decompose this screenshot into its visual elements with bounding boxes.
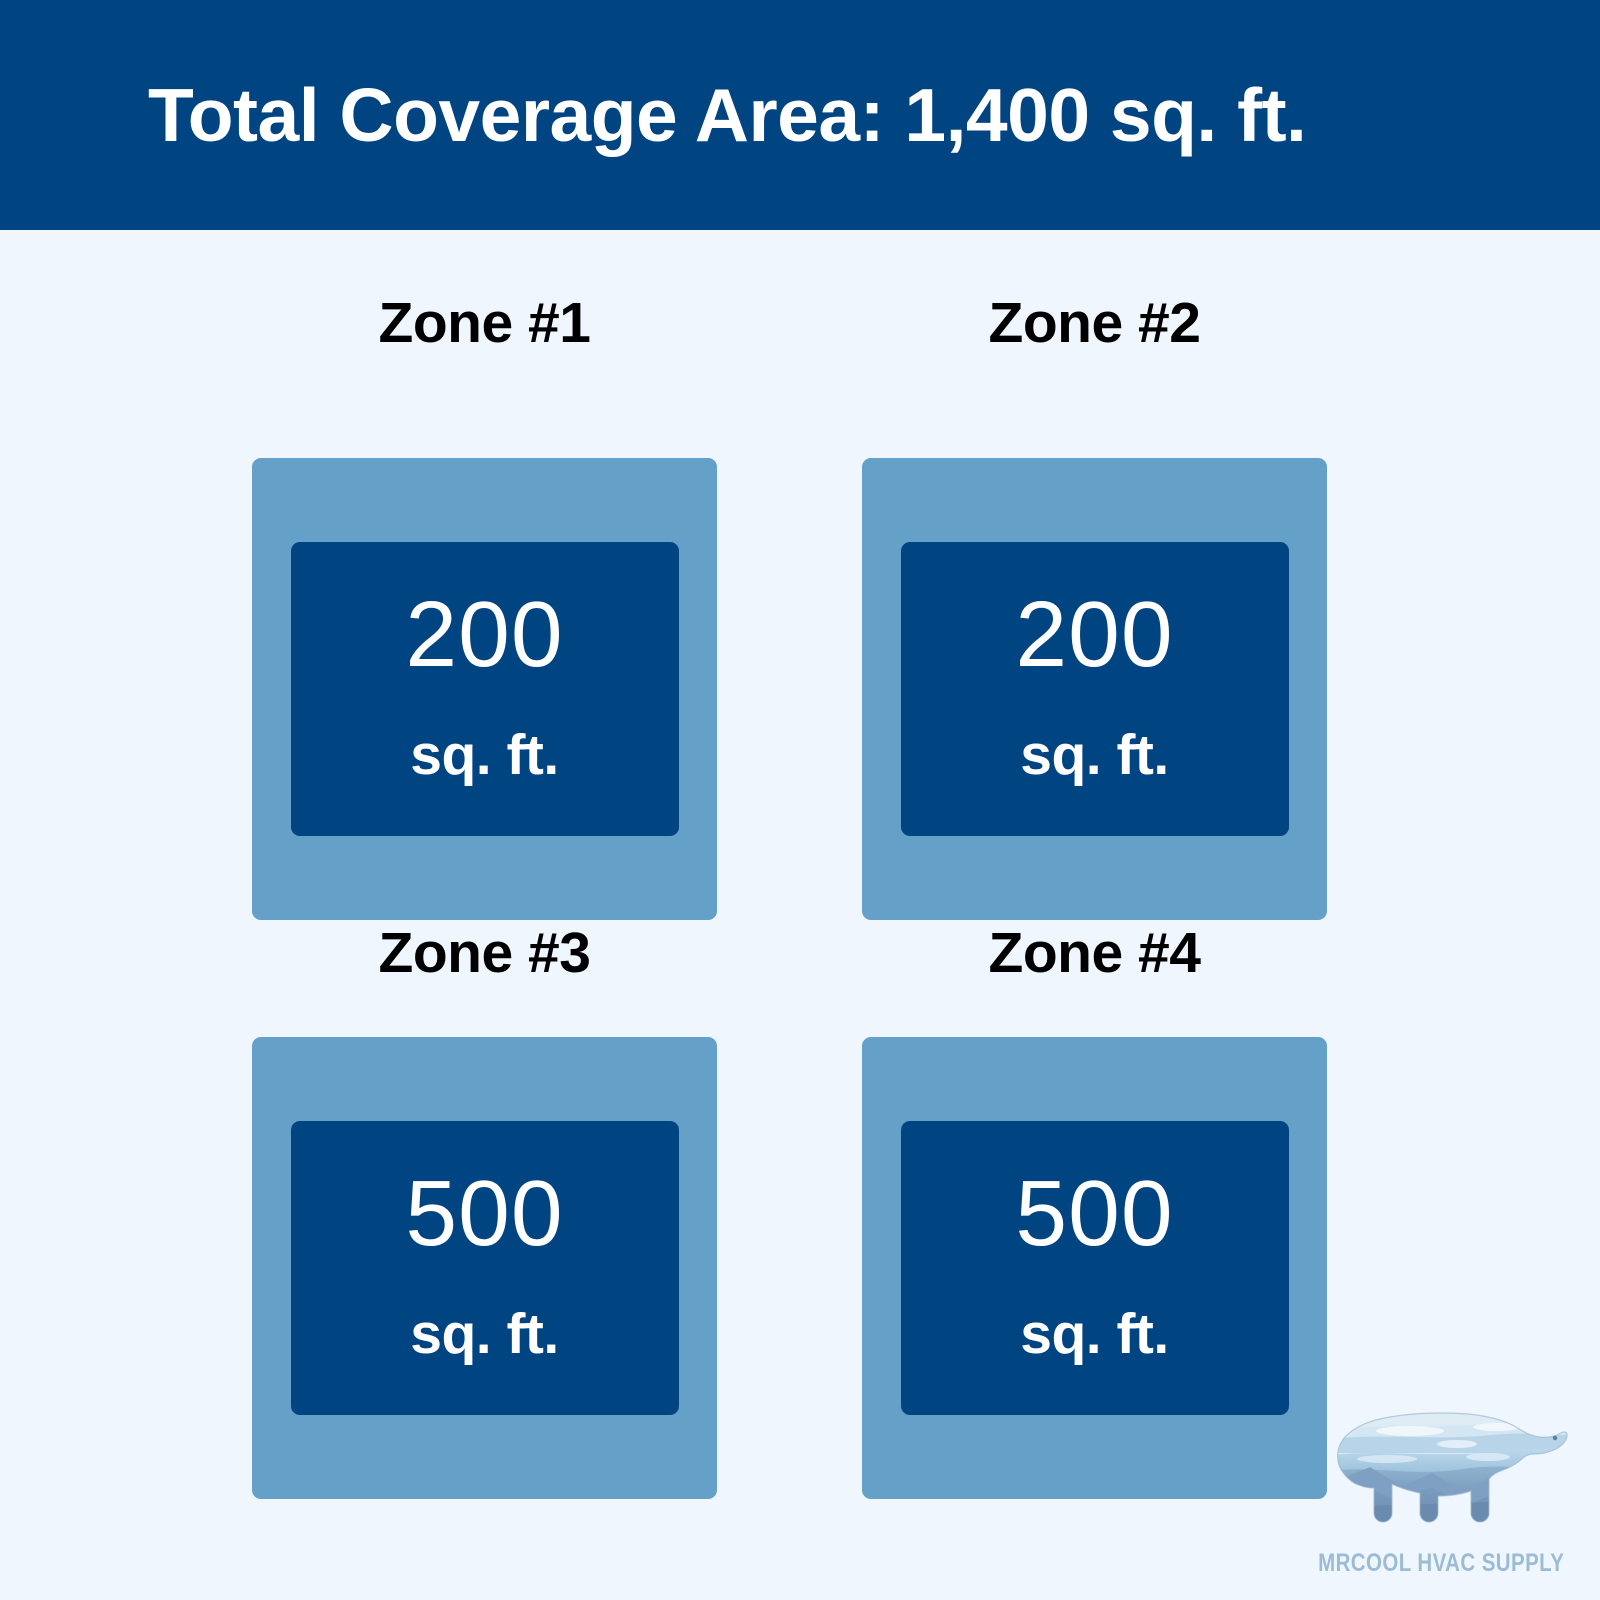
zone-area-value-4: 500 [1015, 1167, 1173, 1260]
zone-card-1: 200 sq. ft. [252, 458, 717, 920]
zone-card-4: 500 sq. ft. [862, 1037, 1327, 1499]
zone-area-unit-4: sq. ft. [1020, 1306, 1169, 1363]
zone-cell-2: Zone #2 200 sq. ft. [862, 290, 1327, 920]
zone-value-box-1: 200 sq. ft. [291, 542, 679, 836]
zone-value-box-4: 500 sq. ft. [901, 1121, 1289, 1415]
zone-area-unit-3: sq. ft. [410, 1306, 559, 1363]
zone-value-box-3: 500 sq. ft. [291, 1121, 679, 1415]
zone-label-2: Zone #2 [862, 290, 1327, 362]
zone-area-unit-1: sq. ft. [410, 727, 559, 784]
zone-cell-3: Zone #3 500 sq. ft. [252, 920, 717, 1499]
zone-value-box-2: 200 sq. ft. [901, 542, 1289, 836]
zone-card-2: 200 sq. ft. [862, 458, 1327, 920]
polar-bear-icon [1292, 1387, 1582, 1547]
zone-cell-1: Zone #1 200 sq. ft. [252, 290, 717, 920]
zone-cell-4: Zone #4 500 sq. ft. [862, 920, 1327, 1499]
zone-area-unit-2: sq. ft. [1020, 727, 1169, 784]
page-title: Total Coverage Area: 1,400 sq. ft. [148, 0, 1306, 230]
zone-label-1: Zone #1 [252, 290, 717, 362]
bear-eye-icon [1553, 1436, 1557, 1440]
zone-card-3: 500 sq. ft. [252, 1037, 717, 1499]
zone-area-value-3: 500 [405, 1167, 563, 1260]
bear-body-fill [1292, 1387, 1582, 1547]
zone-area-value-2: 200 [1015, 588, 1173, 681]
header-band: Total Coverage Area: 1,400 sq. ft. [0, 0, 1600, 230]
zone-area-value-1: 200 [405, 588, 563, 681]
brand-logo: MRCOOL HVAC SUPPLY [1292, 1387, 1582, 1592]
zone-label-3: Zone #3 [252, 920, 717, 992]
brand-name: MRCOOL HVAC SUPPLY [1318, 1549, 1556, 1578]
zone-label-4: Zone #4 [862, 920, 1327, 992]
